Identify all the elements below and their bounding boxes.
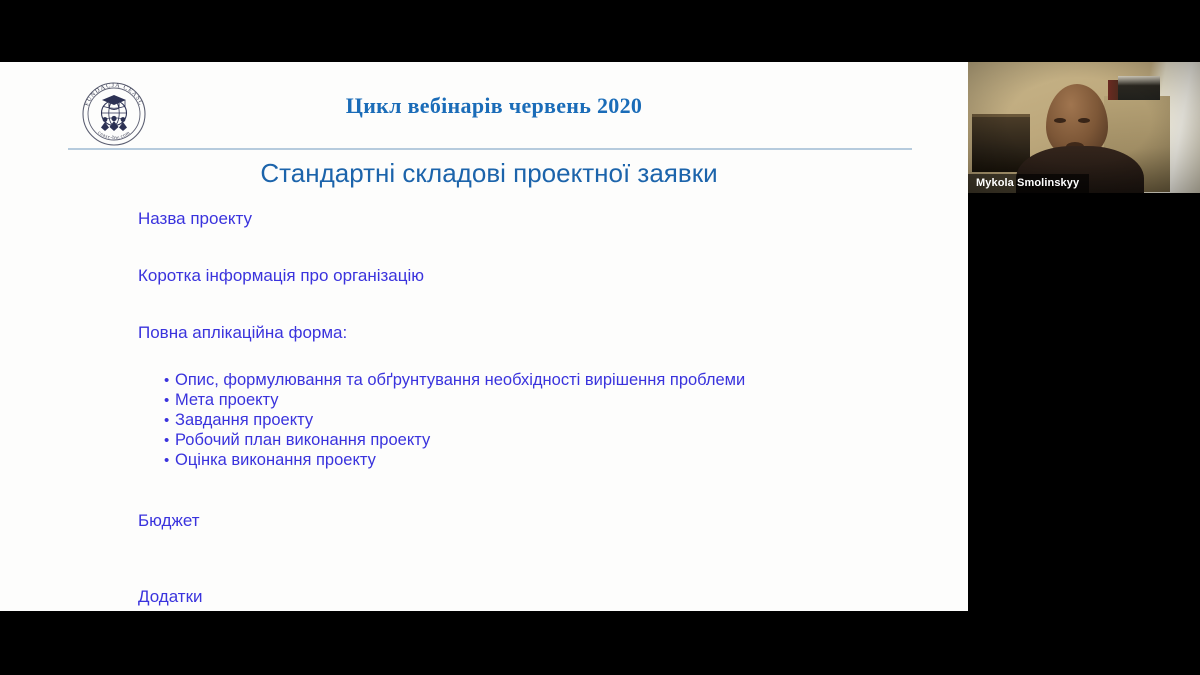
spacer-3: [138, 341, 948, 372]
slide-body: Назва проекту Коротка інформація про орг…: [138, 210, 948, 605]
list-item-label: Робочий план виконання проекту: [175, 432, 430, 449]
slide-title: Стандартні складові проектної заявки: [0, 158, 968, 189]
list-item: • Робочий план виконання проекту: [164, 432, 948, 452]
participant-video-tile[interactable]: Mykola Smolinskyy: [968, 62, 1200, 193]
bullet-dot-icon: •: [164, 453, 175, 468]
list-item: • Мета проекту: [164, 392, 948, 412]
list-item-label: Оцінка виконання проекту: [175, 452, 376, 469]
svg-text:ceasc-bw.com: ceasc-bw.com: [97, 130, 132, 141]
bullet-budget: Бюджет: [138, 512, 948, 529]
meeting-screen: FUNDACJA CEASC ceasc-bw.com: [0, 0, 1200, 675]
sub-bullet-list: • Опис, формулювання та обґрунтування не…: [164, 372, 948, 472]
header-divider: [68, 148, 912, 150]
participant-eye-right: [1078, 118, 1090, 123]
bullet-name-of-project: Назва проекту: [138, 210, 948, 227]
bullet-full-form: Повна аплікаційна форма:: [138, 324, 948, 341]
spacer-2: [138, 284, 948, 324]
bullet-short-info: Коротка інформація про організацію: [138, 267, 948, 284]
list-item-label: Опис, формулювання та обґрунтування необ…: [175, 372, 745, 389]
bullet-dot-icon: •: [164, 393, 175, 408]
shared-slide: FUNDACJA CEASC ceasc-bw.com: [0, 62, 968, 611]
list-item-label: Завдання проекту: [175, 412, 313, 429]
bullet-dot-icon: •: [164, 433, 175, 448]
slide-header: FUNDACJA CEASC ceasc-bw.com: [0, 62, 968, 150]
list-item: • Опис, формулювання та обґрунтування не…: [164, 372, 948, 392]
spacer-4: [138, 472, 948, 512]
bullet-dot-icon: •: [164, 373, 175, 388]
list-item-label: Мета проекту: [175, 392, 279, 409]
participant-name-label: Mykola Smolinskyy: [968, 174, 1089, 193]
list-item: • Оцінка виконання проекту: [164, 452, 948, 472]
spacer-5: [138, 529, 948, 588]
bullet-appendices: Додатки: [138, 588, 948, 605]
spacer-1: [138, 227, 948, 267]
bullet-dot-icon: •: [164, 413, 175, 428]
list-item: • Завдання проекту: [164, 412, 948, 432]
deck-title: Цикл вебінарів червень 2020: [0, 93, 968, 119]
participant-eye-left: [1054, 118, 1066, 123]
